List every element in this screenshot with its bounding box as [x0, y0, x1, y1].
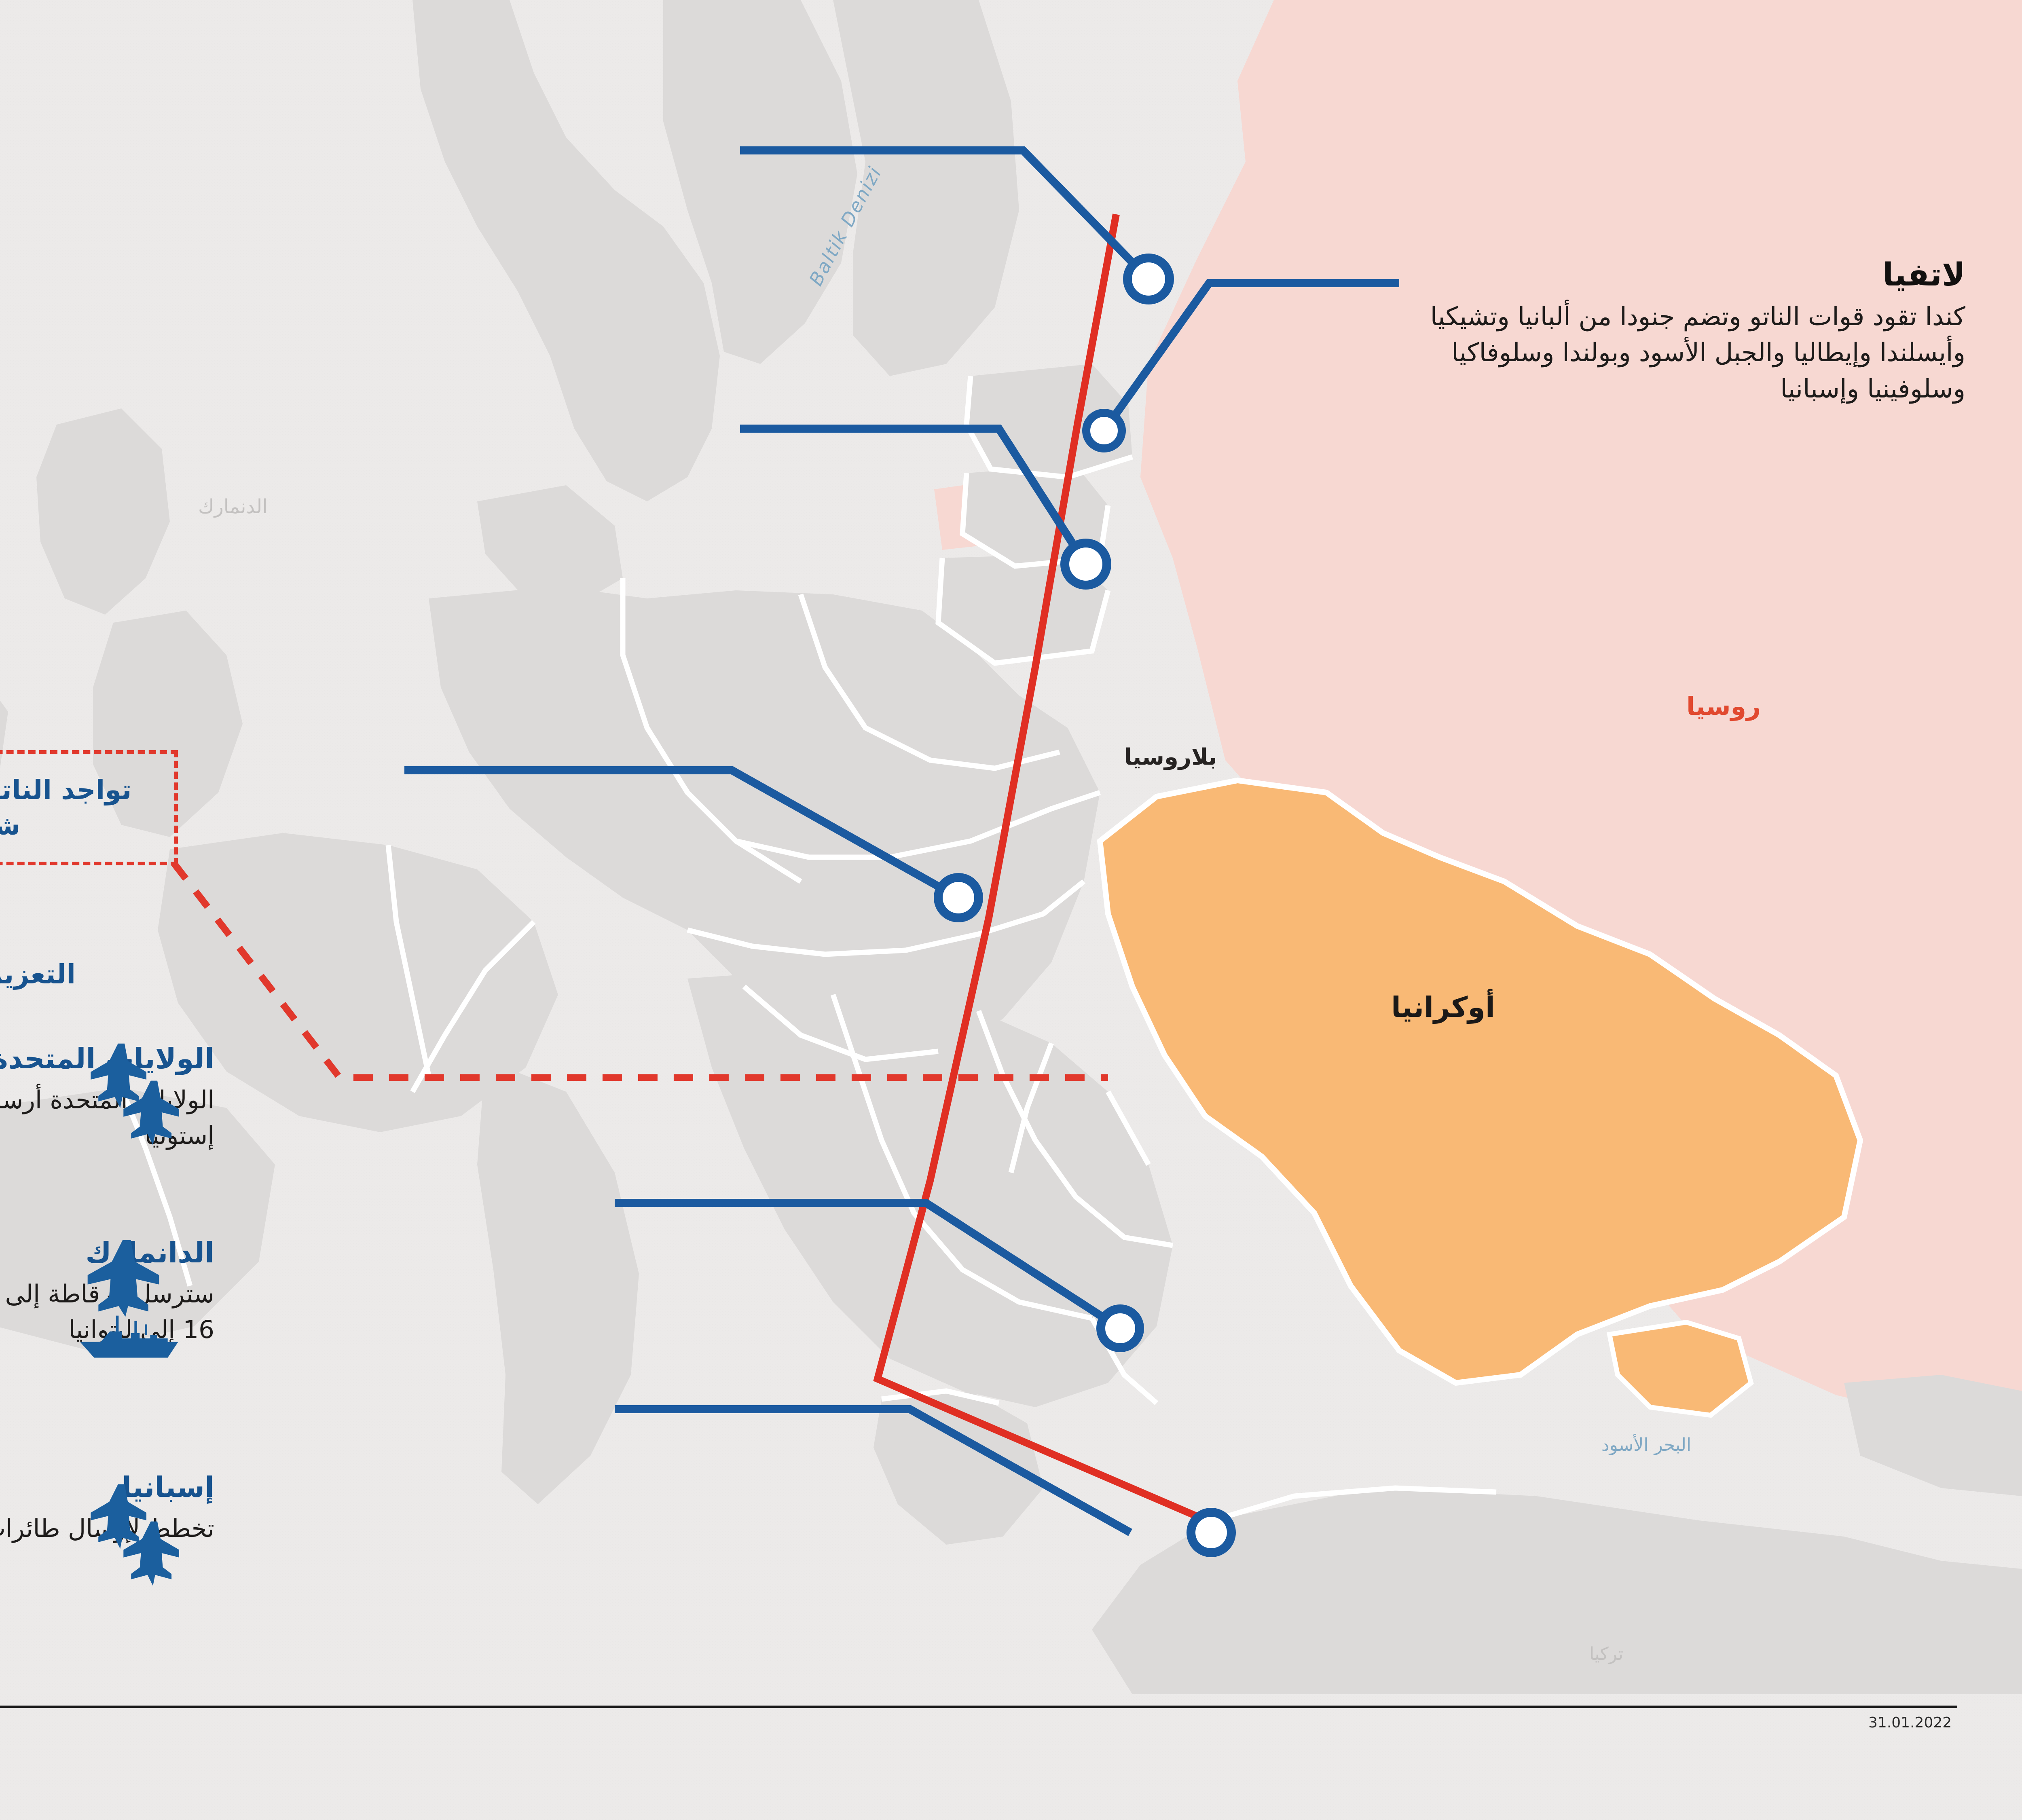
callout-body: كندا تقود قوات الناتو وتضم جنودا من ألبا… — [1407, 298, 1965, 407]
map-label-russia: روسيا — [1686, 691, 1761, 721]
legend-box: تواجد الناتو في شرقي وجنوب شرقي أوروبا — [0, 750, 178, 865]
reinforcements-heading: التعزيزات إلى شرقي وجنوب شرقي أوروبا — [0, 958, 210, 990]
reinforcement-spain: إسبانيا تخطط لإرسال طائرات حربية إلى بلغ… — [0, 1472, 214, 1547]
map-label-ukraine: أوكرانيا — [1391, 991, 1495, 1024]
map-label-belarus: بلاروسيا — [1124, 744, 1217, 770]
legend-box-label: تواجد الناتو في شرقي وجنوب شرقي أوروبا — [0, 772, 174, 843]
publication-date: 31.01.2022 — [1868, 1714, 1952, 1731]
reinforcement-denmark: الدانمارك سترسل فرقاطة إلى بحر البلطيق و… — [0, 1237, 214, 1348]
map-label-black-sea: البحر الأسود — [1601, 1435, 1691, 1455]
infographic-canvas: الناتو يعزز وجوده شرقي أوروبا إثر التوتر… — [0, 0, 2022, 1820]
jet-icon — [85, 1237, 166, 1318]
footer-divider — [0, 1706, 1957, 1708]
jet-icon — [81, 1480, 190, 1589]
ship-icon — [75, 1312, 180, 1365]
callout-latvia: لاتفيا كندا تقود قوات الناتو وتضم جنودا … — [1407, 259, 1965, 407]
map-label-denmark: الدنمارك — [198, 495, 268, 518]
callout-title: لاتفيا — [1407, 259, 1965, 292]
jet-icon — [81, 1039, 190, 1148]
reinforcement-united-states: الولايات المتحدة الولايات المتحدة أرسلت … — [0, 1043, 214, 1154]
map-label-turkey: تركيا — [1589, 1644, 1623, 1664]
